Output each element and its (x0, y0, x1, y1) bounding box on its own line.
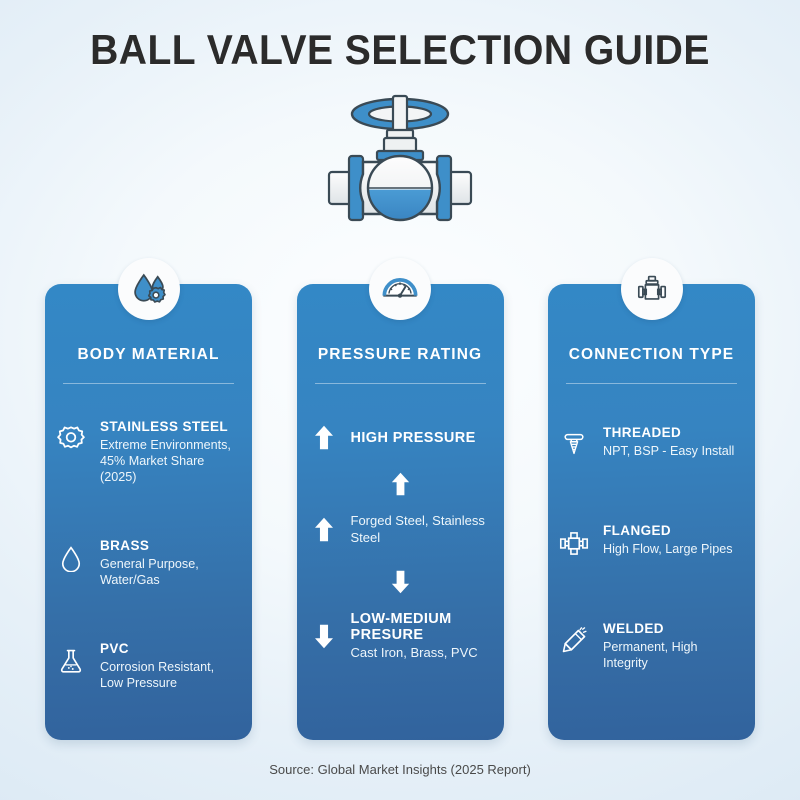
item-title: FLANGED (603, 523, 733, 540)
card-pressure-rating[interactable]: PRESSURE RATING HIGH PRESSURE (297, 284, 504, 740)
card-title-pressure-rating: PRESSURE RATING (297, 346, 504, 364)
item-desc: Permanent, High Integrity (603, 639, 742, 671)
item-desc: NPT, BSP - Easy Install (603, 443, 734, 459)
gauge-icon (369, 258, 431, 320)
card-body-material[interactable]: BODY MATERIAL STAINLESS STEEL Extreme En… (45, 284, 252, 740)
list-item[interactable]: Forged Steel, Stainless Steel (311, 513, 490, 547)
item-text: LOW-MEDIUM PRESURE Cast Iron, Brass, PVC (351, 611, 490, 662)
item-title: PVC (100, 641, 239, 658)
item-text: BRASS General Purpose, Water/Gas (100, 537, 239, 588)
list-item[interactable]: PVC Corrosion Resistant, Low Pressure (53, 640, 239, 691)
arrow-down-icon (311, 569, 490, 595)
item-desc: Extreme Environments, 45% Market Share (… (100, 437, 239, 485)
infographic-canvas: BALL VALVE SELECTION GUIDE (0, 0, 800, 800)
items-connection-type: THREADED NPT, BSP - Easy Install (548, 424, 755, 707)
item-title: HIGH PRESSURE (351, 430, 476, 446)
item-desc: General Purpose, Water/Gas (100, 556, 239, 588)
arrow-down-icon (311, 623, 337, 650)
source-note: Source: Global Market Insights (2025 Rep… (0, 762, 800, 777)
card-connection-type[interactable]: CONNECTION TYPE THREADED NPT, BSP - Easy… (548, 284, 755, 740)
list-item[interactable]: HIGH PRESSURE (311, 424, 490, 451)
item-title: WELDED (603, 621, 742, 638)
items-pressure-rating: HIGH PRESSURE Forged Steel, Stainless St… (297, 424, 504, 662)
card-divider (63, 383, 234, 384)
list-item[interactable]: FLANGED High Flow, Large Pipes (556, 522, 742, 562)
droplet-icon (53, 537, 89, 577)
list-item[interactable]: THREADED NPT, BSP - Easy Install (556, 424, 742, 464)
item-title: STAINLESS STEEL (100, 419, 239, 436)
flask-icon (53, 640, 89, 680)
list-item[interactable]: WELDED Permanent, High Integrity (556, 620, 742, 671)
page-title: BALL VALVE SELECTION GUIDE (28, 26, 772, 74)
valve-outline-icon (621, 258, 683, 320)
screw-icon (556, 424, 592, 464)
card-divider (566, 383, 737, 384)
item-title: LOW-MEDIUM PRESURE (351, 611, 490, 643)
card-divider (315, 383, 486, 384)
welding-torch-icon (556, 620, 592, 660)
item-text: THREADED NPT, BSP - Easy Install (603, 424, 734, 459)
item-desc: Corrosion Resistant, Low Pressure (100, 659, 239, 691)
item-title: BRASS (100, 538, 239, 555)
item-desc: High Flow, Large Pipes (603, 541, 733, 557)
item-text: WELDED Permanent, High Integrity (603, 620, 742, 671)
flange-icon (556, 522, 592, 562)
item-title: THREADED (603, 425, 734, 442)
card-title-body-material: BODY MATERIAL (45, 346, 252, 364)
arrow-up-icon (311, 471, 490, 497)
items-body-material: STAINLESS STEEL Extreme Environments, 45… (45, 418, 252, 727)
item-desc: Forged Steel, Stainless Steel (351, 513, 490, 547)
arrow-up-icon (311, 516, 337, 543)
list-item[interactable]: STAINLESS STEEL Extreme Environments, 45… (53, 418, 239, 485)
item-text: FLANGED High Flow, Large Pipes (603, 522, 733, 557)
arrow-up-icon (311, 424, 337, 451)
item-desc: Cast Iron, Brass, PVC (351, 645, 490, 662)
list-item[interactable]: LOW-MEDIUM PRESURE Cast Iron, Brass, PVC (311, 611, 490, 662)
water-drop-gear-icon (118, 258, 180, 320)
item-text: STAINLESS STEEL Extreme Environments, 45… (100, 418, 239, 485)
item-text: PVC Corrosion Resistant, Low Pressure (100, 640, 239, 691)
list-item[interactable]: BRASS General Purpose, Water/Gas (53, 537, 239, 588)
ball-valve-illustration (305, 88, 495, 238)
card-title-connection-type: CONNECTION TYPE (548, 346, 755, 364)
cards-row: BODY MATERIAL STAINLESS STEEL Extreme En… (45, 284, 755, 740)
gear-icon (53, 418, 89, 458)
